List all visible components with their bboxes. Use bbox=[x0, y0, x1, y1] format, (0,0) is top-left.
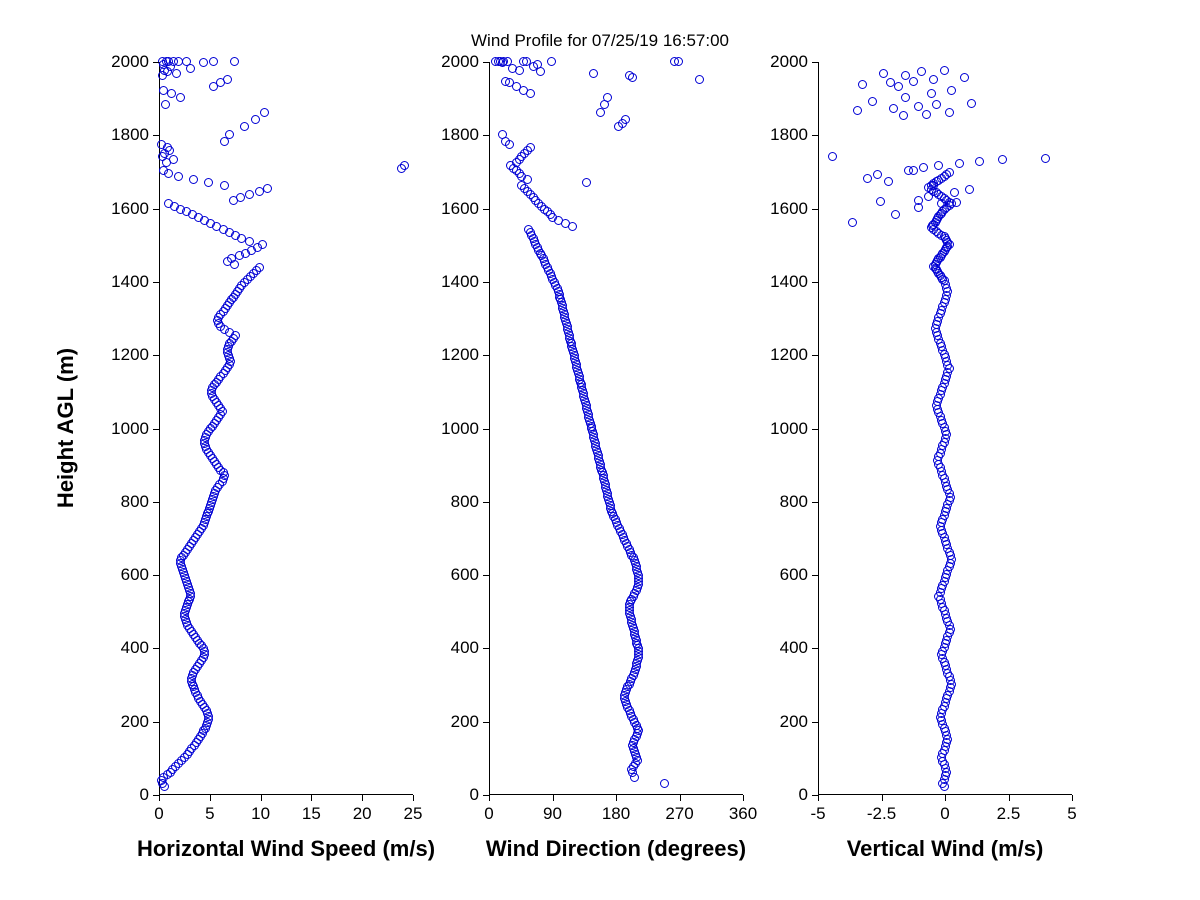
data-point-marker bbox=[182, 57, 191, 66]
data-point-marker bbox=[967, 99, 976, 108]
y-tick-1600 bbox=[153, 209, 159, 210]
plot-area-panel2 bbox=[489, 62, 743, 795]
y-tick-label-2000: 2000 bbox=[770, 52, 808, 72]
data-point-marker bbox=[876, 197, 885, 206]
data-point-marker bbox=[236, 193, 245, 202]
data-point-marker bbox=[174, 57, 183, 66]
y-tick-label-200: 200 bbox=[451, 712, 479, 732]
data-point-marker bbox=[998, 155, 1007, 164]
data-point-marker bbox=[498, 130, 507, 139]
y-tick-2000 bbox=[483, 62, 489, 63]
y-tick-label-1200: 1200 bbox=[770, 345, 808, 365]
data-point-marker bbox=[929, 75, 938, 84]
y-tick-label-400: 400 bbox=[121, 638, 149, 658]
y-tick-label-2000: 2000 bbox=[441, 52, 479, 72]
data-point-marker bbox=[884, 177, 893, 186]
data-point-marker bbox=[853, 106, 862, 115]
data-point-marker bbox=[891, 210, 900, 219]
x-tick-label-5: 5 bbox=[1067, 804, 1076, 824]
data-point-marker bbox=[220, 181, 229, 190]
y-tick-label-800: 800 bbox=[451, 492, 479, 512]
y-tick-1800 bbox=[812, 135, 818, 136]
data-point-marker bbox=[547, 57, 556, 66]
data-point-marker bbox=[947, 86, 956, 95]
data-point-marker bbox=[952, 198, 961, 207]
data-point-marker bbox=[400, 161, 409, 170]
x-tick-15 bbox=[311, 795, 312, 801]
x-tick-label-15: 15 bbox=[302, 804, 321, 824]
y-tick-label-1800: 1800 bbox=[441, 125, 479, 145]
y-tick-label-1000: 1000 bbox=[441, 419, 479, 439]
y-tick-label-200: 200 bbox=[121, 712, 149, 732]
data-point-marker bbox=[922, 110, 931, 119]
data-point-marker bbox=[526, 143, 535, 152]
data-point-marker bbox=[209, 57, 218, 66]
data-point-marker bbox=[189, 175, 198, 184]
y-tick-1000 bbox=[153, 429, 159, 430]
data-point-marker bbox=[950, 188, 959, 197]
y-tick-600 bbox=[153, 575, 159, 576]
x-tick--5 bbox=[818, 795, 819, 801]
plot-area-panel3 bbox=[818, 62, 1072, 795]
y-tick-600 bbox=[483, 575, 489, 576]
y-tick-label-1200: 1200 bbox=[441, 345, 479, 365]
y-tick-200 bbox=[812, 722, 818, 723]
y-tick-800 bbox=[812, 502, 818, 503]
data-point-marker bbox=[914, 102, 923, 111]
data-point-marker bbox=[621, 115, 630, 124]
x-axis-label-panel2: Wind Direction (degrees) bbox=[466, 836, 766, 862]
x-tick--2.5 bbox=[882, 795, 883, 801]
y-tick-400 bbox=[812, 648, 818, 649]
x-tick-label-5: 5 bbox=[205, 804, 214, 824]
data-point-marker bbox=[934, 161, 943, 170]
data-point-marker bbox=[848, 218, 857, 227]
data-point-marker bbox=[157, 140, 166, 149]
data-point-marker bbox=[225, 130, 234, 139]
data-point-marker bbox=[169, 155, 178, 164]
x-tick-label--2.5: -2.5 bbox=[867, 804, 896, 824]
data-point-marker bbox=[965, 185, 974, 194]
data-point-marker bbox=[924, 192, 933, 201]
y-axis-label: Height AGL (m) bbox=[53, 298, 79, 558]
y-tick-label-1000: 1000 bbox=[111, 419, 149, 439]
y-tick-label-1200: 1200 bbox=[111, 345, 149, 365]
plot-area-panel1 bbox=[159, 62, 413, 795]
y-tick-label-800: 800 bbox=[780, 492, 808, 512]
data-point-marker bbox=[240, 122, 249, 131]
x-tick-2.5 bbox=[1009, 795, 1010, 801]
y-tick-label-1400: 1400 bbox=[111, 272, 149, 292]
data-point-marker bbox=[975, 157, 984, 166]
x-tick-label--5: -5 bbox=[810, 804, 825, 824]
data-point-marker bbox=[159, 166, 168, 175]
x-tick-label-20: 20 bbox=[353, 804, 372, 824]
data-point-marker bbox=[894, 82, 903, 91]
y-tick-400 bbox=[153, 648, 159, 649]
data-point-marker bbox=[828, 152, 837, 161]
y-tick-label-1600: 1600 bbox=[770, 199, 808, 219]
y-tick-label-0: 0 bbox=[470, 785, 479, 805]
x-tick-0 bbox=[489, 795, 490, 801]
data-point-marker bbox=[695, 75, 704, 84]
data-point-marker bbox=[603, 93, 612, 102]
y-tick-1200 bbox=[812, 355, 818, 356]
y-tick-label-1400: 1400 bbox=[770, 272, 808, 292]
x-tick-label-25: 25 bbox=[404, 804, 423, 824]
x-tick-270 bbox=[680, 795, 681, 801]
x-tick-10 bbox=[261, 795, 262, 801]
x-axis-label-panel3: Vertical Wind (m/s) bbox=[795, 836, 1095, 862]
y-tick-1600 bbox=[812, 209, 818, 210]
data-point-marker bbox=[625, 71, 634, 80]
data-point-marker bbox=[251, 115, 260, 124]
y-tick-label-200: 200 bbox=[780, 712, 808, 732]
y-tick-label-800: 800 bbox=[121, 492, 149, 512]
data-point-marker bbox=[245, 237, 254, 246]
x-tick-label-270: 270 bbox=[665, 804, 693, 824]
data-point-marker bbox=[899, 111, 908, 120]
data-point-marker bbox=[230, 57, 239, 66]
data-point-marker bbox=[255, 263, 264, 272]
x-tick-label-0: 0 bbox=[154, 804, 163, 824]
data-point-marker bbox=[879, 69, 888, 78]
panel-vertical-wind: 0200400600800100012001400160018002000-5-… bbox=[818, 62, 1072, 795]
y-tick-600 bbox=[812, 575, 818, 576]
data-point-marker bbox=[263, 184, 272, 193]
panel-horizontal-wind-speed: 0200400600800100012001400160018002000051… bbox=[159, 62, 413, 795]
data-point-marker bbox=[660, 779, 669, 788]
y-tick-1400 bbox=[153, 282, 159, 283]
data-point-marker bbox=[932, 100, 941, 109]
data-point-marker bbox=[940, 66, 949, 75]
y-tick-400 bbox=[483, 648, 489, 649]
data-point-marker bbox=[519, 57, 528, 66]
data-point-marker bbox=[245, 190, 254, 199]
x-tick-label-0: 0 bbox=[940, 804, 949, 824]
data-point-marker bbox=[589, 69, 598, 78]
x-tick-0 bbox=[159, 795, 160, 801]
y-tick-label-1800: 1800 bbox=[111, 125, 149, 145]
y-tick-200 bbox=[483, 722, 489, 723]
data-point-marker bbox=[204, 178, 213, 187]
data-point-marker bbox=[914, 203, 923, 212]
data-point-marker bbox=[858, 80, 867, 89]
data-point-marker bbox=[176, 93, 185, 102]
y-tick-label-0: 0 bbox=[140, 785, 149, 805]
data-point-marker bbox=[533, 60, 542, 69]
y-tick-800 bbox=[483, 502, 489, 503]
data-point-marker bbox=[955, 159, 964, 168]
y-tick-label-1800: 1800 bbox=[770, 125, 808, 145]
axes-box-panel1: 0200400600800100012001400160018002000051… bbox=[159, 62, 413, 795]
data-point-marker bbox=[909, 77, 918, 86]
y-tick-1000 bbox=[812, 429, 818, 430]
data-point-marker bbox=[167, 89, 176, 98]
data-point-marker bbox=[258, 240, 267, 249]
y-tick-label-400: 400 bbox=[780, 638, 808, 658]
y-tick-label-1600: 1600 bbox=[111, 199, 149, 219]
axes-box-panel3: 0200400600800100012001400160018002000-5-… bbox=[818, 62, 1072, 795]
data-point-marker bbox=[919, 163, 928, 172]
data-point-marker bbox=[945, 168, 954, 177]
data-point-marker bbox=[174, 172, 183, 181]
data-point-marker bbox=[927, 89, 936, 98]
x-tick-label-360: 360 bbox=[729, 804, 757, 824]
x-tick-label-2.5: 2.5 bbox=[997, 804, 1021, 824]
x-tick-360 bbox=[743, 795, 744, 801]
y-tick-label-400: 400 bbox=[451, 638, 479, 658]
data-point-marker bbox=[260, 108, 269, 117]
y-tick-800 bbox=[153, 502, 159, 503]
data-point-marker bbox=[159, 86, 168, 95]
y-tick-1000 bbox=[483, 429, 489, 430]
y-tick-label-600: 600 bbox=[780, 565, 808, 585]
y-tick-1600 bbox=[483, 209, 489, 210]
x-tick-5 bbox=[210, 795, 211, 801]
x-tick-label-0: 0 bbox=[484, 804, 493, 824]
x-tick-180 bbox=[616, 795, 617, 801]
data-point-marker bbox=[199, 58, 208, 67]
y-tick-label-1400: 1400 bbox=[441, 272, 479, 292]
wind-profile-figure: Wind Profile for 07/25/19 16:57:00 Heigh… bbox=[0, 0, 1200, 900]
data-point-marker bbox=[868, 97, 877, 106]
x-tick-label-10: 10 bbox=[251, 804, 270, 824]
data-point-marker bbox=[503, 57, 512, 66]
data-point-marker bbox=[582, 178, 591, 187]
data-point-marker bbox=[164, 199, 173, 208]
x-axis-label-panel1: Horizontal Wind Speed (m/s) bbox=[136, 836, 436, 862]
data-point-marker bbox=[674, 57, 683, 66]
data-point-marker bbox=[873, 170, 882, 179]
y-tick-1200 bbox=[483, 355, 489, 356]
x-tick-20 bbox=[362, 795, 363, 801]
data-point-marker bbox=[491, 57, 500, 66]
x-tick-5 bbox=[1072, 795, 1073, 801]
y-tick-2000 bbox=[812, 62, 818, 63]
data-point-marker bbox=[917, 67, 926, 76]
figure-title: Wind Profile for 07/25/19 16:57:00 bbox=[0, 31, 1200, 51]
data-point-marker bbox=[172, 69, 181, 78]
y-tick-1400 bbox=[483, 282, 489, 283]
y-tick-1800 bbox=[153, 135, 159, 136]
y-tick-label-600: 600 bbox=[121, 565, 149, 585]
y-tick-1400 bbox=[812, 282, 818, 283]
data-point-marker bbox=[901, 93, 910, 102]
data-point-marker bbox=[945, 108, 954, 117]
y-tick-200 bbox=[153, 722, 159, 723]
y-tick-2000 bbox=[153, 62, 159, 63]
data-point-marker bbox=[960, 73, 969, 82]
y-tick-1800 bbox=[483, 135, 489, 136]
data-point-marker bbox=[863, 174, 872, 183]
y-tick-label-1000: 1000 bbox=[770, 419, 808, 439]
data-point-marker bbox=[1041, 154, 1050, 163]
data-point-marker bbox=[889, 104, 898, 113]
data-point-marker bbox=[501, 77, 510, 86]
x-tick-label-180: 180 bbox=[602, 804, 630, 824]
x-tick-0 bbox=[945, 795, 946, 801]
data-point-marker bbox=[596, 108, 605, 117]
data-point-marker bbox=[223, 75, 232, 84]
panel-wind-direction: 0200400600800100012001400160018002000090… bbox=[489, 62, 743, 795]
y-tick-1200 bbox=[153, 355, 159, 356]
x-tick-90 bbox=[553, 795, 554, 801]
y-tick-label-1600: 1600 bbox=[441, 199, 479, 219]
x-tick-label-90: 90 bbox=[543, 804, 562, 824]
data-point-marker bbox=[161, 100, 170, 109]
data-point-marker bbox=[162, 57, 171, 66]
y-tick-label-2000: 2000 bbox=[111, 52, 149, 72]
axes-box-panel2: 0200400600800100012001400160018002000090… bbox=[489, 62, 743, 795]
x-tick-25 bbox=[413, 795, 414, 801]
y-tick-label-0: 0 bbox=[799, 785, 808, 805]
y-tick-label-600: 600 bbox=[451, 565, 479, 585]
